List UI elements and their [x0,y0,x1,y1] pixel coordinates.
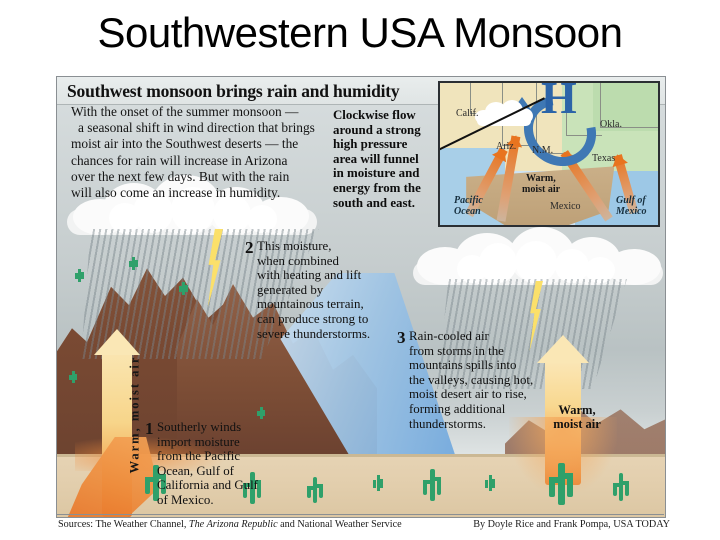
step-line: import moisture [157,435,271,450]
page-title: Southwestern USA Monsoon [0,4,720,62]
intro-line: With the onset of the summer monsoon — [71,104,359,120]
step-3-text: Rain-cooled air from storms in the mount… [397,329,567,431]
map-label-mexico: Mexico [550,201,581,212]
cactus-icon [69,371,77,383]
inset-map: H Calif. Ariz. N.M. Okla. Texas Mexico P… [438,81,660,227]
map-label-okla: Okla. [600,119,622,130]
cactus-icon [307,477,323,503]
cactus-icon [423,469,441,501]
infographic-panel: Rain-cooled air Warm, moist air Warm, mo… [56,76,666,518]
sources-text: Sources: The Weather Channel, The Arizon… [58,519,402,530]
sources-divider [56,514,664,515]
slide: Southwestern USA Monsoon [0,0,720,540]
callout-line: Clockwise flow [333,108,443,123]
step-2: 2 This moisture, when combined with heat… [245,239,405,341]
credit-text: By Doyle Rice and Frank Pompa, USA TODAY [473,519,670,530]
warm-moist-air-label-left: Warm, moist air [128,335,143,495]
callout-line: south and east. [333,196,443,211]
cactus-icon [257,407,265,419]
intro-paragraph: With the onset of the summer monsoon — a… [71,104,359,201]
step-line: severe thunderstorms. [257,327,405,342]
step-line: California and Gulf [157,478,271,493]
step-1: 1 Southerly winds import moisture from t… [145,420,271,508]
step-line: when combined [257,254,405,269]
step-1-text: Southerly winds import moisture from the… [145,420,271,508]
map-cloud-icon [475,100,533,124]
intro-line: over the next few days. But with the rai… [71,169,359,185]
sources-bar: Sources: The Weather Channel, The Arizon… [58,519,670,535]
step-line: Rain-cooled air [409,329,567,344]
step-line: generated by [257,283,405,298]
high-pressure-symbol: H [536,81,582,124]
callout-line: in moisture and [333,166,443,181]
step-line: This moisture, [257,239,405,254]
map-label-warm-line-1: Warm, [526,173,556,184]
sources-suffix: and National Weather Service [278,519,402,530]
step-line: the valleys, causing hot, [409,373,567,388]
step-line: of Mexico. [157,493,271,508]
step-line: forming additional [409,402,567,417]
map-label-warm-line-2: moist air [522,184,560,195]
step-line: thunderstorms. [409,417,567,432]
step-line: can produce strong to [257,312,405,327]
step-3: 3 Rain-cooled air from storms in the mou… [397,329,567,431]
intro-line: a seasonal shift in wind direction that … [71,120,359,136]
step-1-number: 1 [145,420,154,437]
step-line: with heating and lift [257,268,405,283]
map-label-pacific-line-1: Pacific [454,195,483,206]
intro-line: moist air into the Southwest deserts — t… [71,136,359,152]
map-label-pacific-line-2: Ocean [454,206,481,217]
step-line: mountainous terrain, [257,297,405,312]
callout-line: area will funnel [333,152,443,167]
callout-line: energy from the [333,181,443,196]
cactus-icon [75,269,84,282]
cactus-icon [613,473,629,501]
map-label-calif: Calif. [456,108,479,119]
step-3-number: 3 [397,329,406,346]
step-line: from the Pacific [157,449,271,464]
map-label-texas: Texas [592,153,615,164]
sources-prefix: Sources: The Weather Channel, [58,519,189,530]
callout-line: high pressure [333,137,443,152]
map-label-ariz: Ariz. [496,141,516,152]
map-label-gulf-line-1: Gulf of [616,195,646,206]
sources-publication: The Arizona Republic [189,519,278,530]
step-line: Southerly winds [157,420,271,435]
intro-line: will also come an increase in humidity. [71,185,359,201]
callout-line: around a strong [333,123,443,138]
cactus-icon [179,282,188,295]
step-2-text: This moisture, when combined with heatin… [245,239,405,341]
cactus-icon [549,463,573,505]
map-label-nm: N.M. [532,145,553,156]
cactus-icon [373,475,383,491]
step-2-number: 2 [245,239,254,256]
intro-line: chances for rain will increase in Arizon… [71,153,359,169]
step-line: from storms in the [409,344,567,359]
map-label-gulf-line-2: Mexico [616,206,647,217]
cactus-icon [485,475,495,491]
step-line: moist desert air to rise, [409,387,567,402]
infographic-headline: Southwest monsoon brings rain and humidi… [67,81,399,102]
cloud-puffs-right [457,241,617,283]
cactus-icon [129,257,138,270]
step-line: Ocean, Gulf of [157,464,271,479]
step-line: mountains spills into [409,358,567,373]
clockwise-flow-callout: Clockwise flow around a strong high pres… [333,108,443,210]
